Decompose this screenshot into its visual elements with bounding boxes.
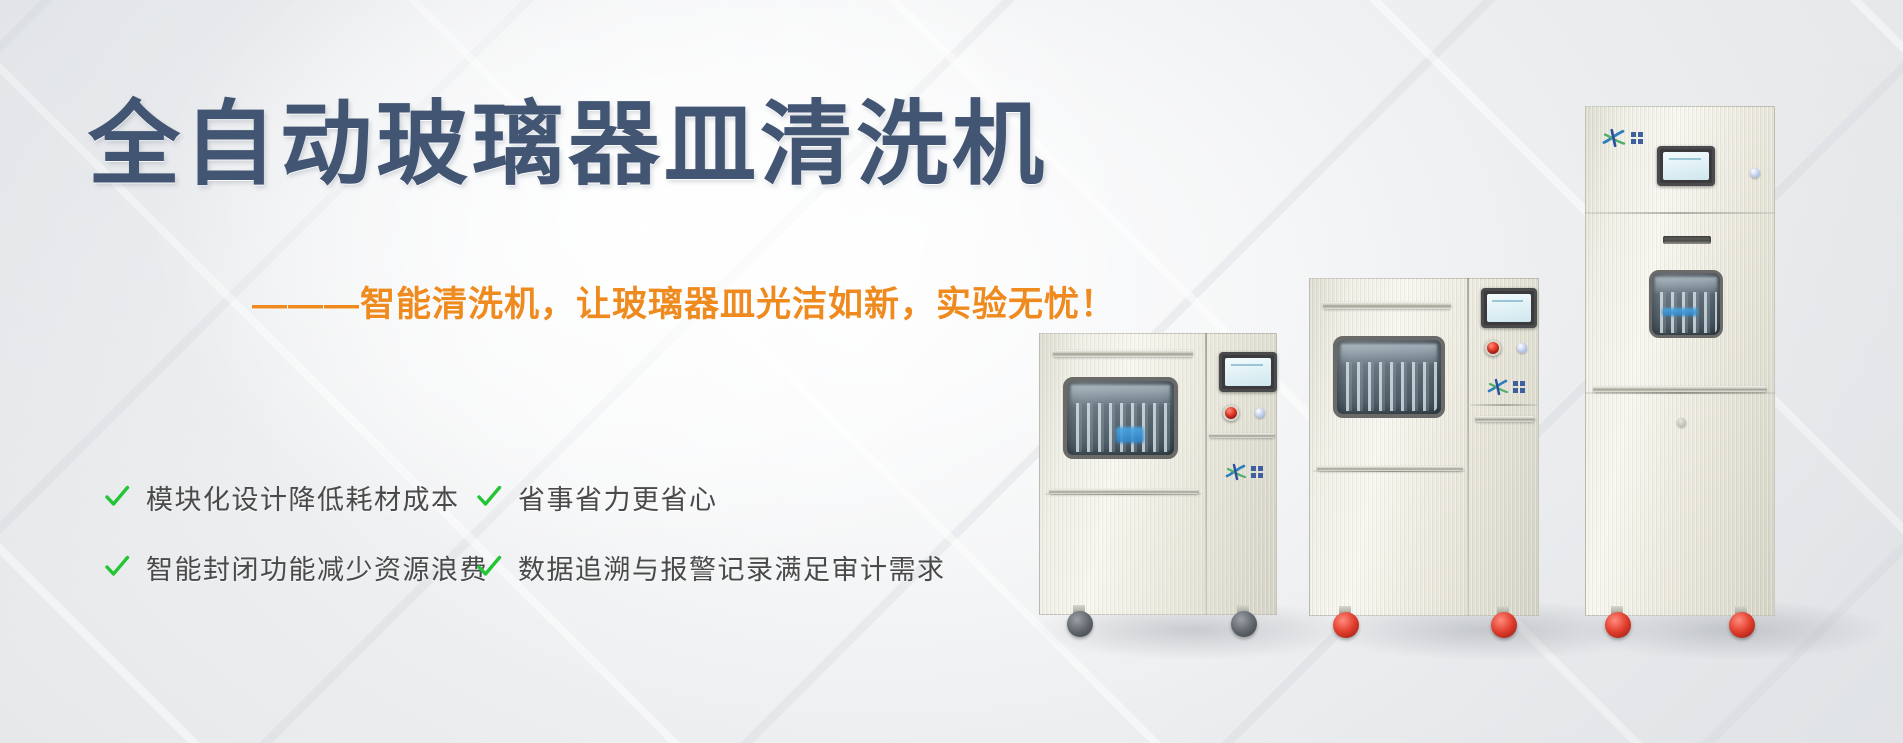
brand-mark-icon <box>1601 128 1627 148</box>
caster-wheel <box>1605 612 1631 638</box>
product-image-stage <box>1023 0 1903 743</box>
brand-mark-icon <box>1225 463 1247 481</box>
page-title: 全自动玻璃器皿清洗机 <box>88 96 1048 195</box>
chamber-viewing-window <box>1333 336 1445 418</box>
brand-logo <box>1487 378 1525 396</box>
list-item-label: 省事省力更省心 <box>518 478 718 517</box>
power-button[interactable] <box>1255 408 1265 418</box>
list-item-label: 数据追溯与报警记录满足审计需求 <box>518 548 946 587</box>
check-icon <box>476 484 502 510</box>
logo-tiles-icon <box>1631 132 1643 144</box>
feature-list: 模块化设计降低耗材成本 省事省力更省心 智能封闭功能减少资源浪费 数据追溯与报警… <box>104 462 946 602</box>
control-panel-handle[interactable] <box>1475 416 1535 422</box>
check-icon <box>476 554 502 580</box>
list-item: 省事省力更省心 <box>476 478 946 517</box>
panel-seam <box>1471 404 1537 406</box>
brand-logo <box>1601 128 1643 148</box>
caster-wheel <box>1231 611 1257 637</box>
glassware-load <box>1341 362 1437 411</box>
product-hero-banner: 全自动玻璃器皿清洗机 ———智能清洗机，让玻璃器皿光洁如新，实验无忧！ 模块化设… <box>0 0 1903 743</box>
door-handle[interactable] <box>1053 350 1193 357</box>
brand-logo <box>1225 463 1263 481</box>
control-touchscreen[interactable] <box>1219 352 1277 392</box>
caster-wheel <box>1333 612 1359 638</box>
power-button[interactable] <box>1750 168 1760 178</box>
chamber-upper-rack <box>1071 385 1169 404</box>
machine-body <box>1309 278 1539 616</box>
list-item-label: 模块化设计降低耗材成本 <box>146 478 460 517</box>
check-icon <box>104 554 130 580</box>
chamber-viewing-window <box>1649 270 1723 338</box>
touchscreen-display <box>1487 294 1531 322</box>
power-button[interactable] <box>1517 343 1527 353</box>
lower-door-handle[interactable] <box>1593 386 1767 392</box>
dispenser-slot[interactable] <box>1663 236 1711 244</box>
caster-wheel <box>1729 612 1755 638</box>
list-item: 智能封闭功能减少资源浪费 <box>104 548 464 587</box>
logo-tiles-icon <box>1251 466 1263 478</box>
lower-panel-handle[interactable] <box>1317 466 1463 471</box>
door-handle[interactable] <box>1323 302 1451 309</box>
emergency-stop-button[interactable] <box>1223 405 1239 421</box>
chamber-upper-rack <box>1655 277 1718 293</box>
brand-mark-icon <box>1487 378 1509 396</box>
chamber-viewing-window <box>1063 377 1178 459</box>
control-touchscreen[interactable] <box>1657 146 1715 186</box>
chamber-upper-rack <box>1341 344 1437 363</box>
banner-subtitle: ———智能清洗机，让玻璃器皿光洁如新，实验无忧！ <box>252 286 1116 325</box>
panel-seam <box>1585 212 1775 214</box>
lower-panel-handle[interactable] <box>1049 489 1199 494</box>
logo-tiles-icon <box>1513 381 1525 393</box>
panel-seam <box>1585 392 1775 394</box>
control-panel-handle[interactable] <box>1209 433 1275 438</box>
emergency-stop-button[interactable] <box>1485 340 1501 356</box>
product-image-tall-column-washer <box>1585 106 1775 616</box>
column-divider <box>1467 278 1469 616</box>
list-item: 数据追溯与报警记录满足审计需求 <box>476 548 946 587</box>
blue-nozzle-tips <box>1116 427 1144 443</box>
door-lock-icon <box>1677 418 1686 427</box>
column-divider <box>1205 333 1207 615</box>
check-icon <box>104 484 130 510</box>
caster-wheel <box>1067 611 1093 637</box>
list-item: 模块化设计降低耗材成本 <box>104 478 464 517</box>
touchscreen-display <box>1663 152 1709 180</box>
blue-nozzle-tips <box>1662 308 1699 316</box>
caster-wheel <box>1491 612 1517 638</box>
touchscreen-display <box>1225 358 1271 386</box>
product-image-freestanding-washer <box>1309 278 1539 616</box>
product-image-undercounter-washer <box>1039 333 1277 615</box>
banner-copy-block: 全自动玻璃器皿清洗机 ———智能清洗机，让玻璃器皿光洁如新，实验无忧！ 模块化设… <box>0 0 1060 743</box>
list-item-label: 智能封闭功能减少资源浪费 <box>146 548 488 587</box>
control-touchscreen[interactable] <box>1481 288 1537 328</box>
